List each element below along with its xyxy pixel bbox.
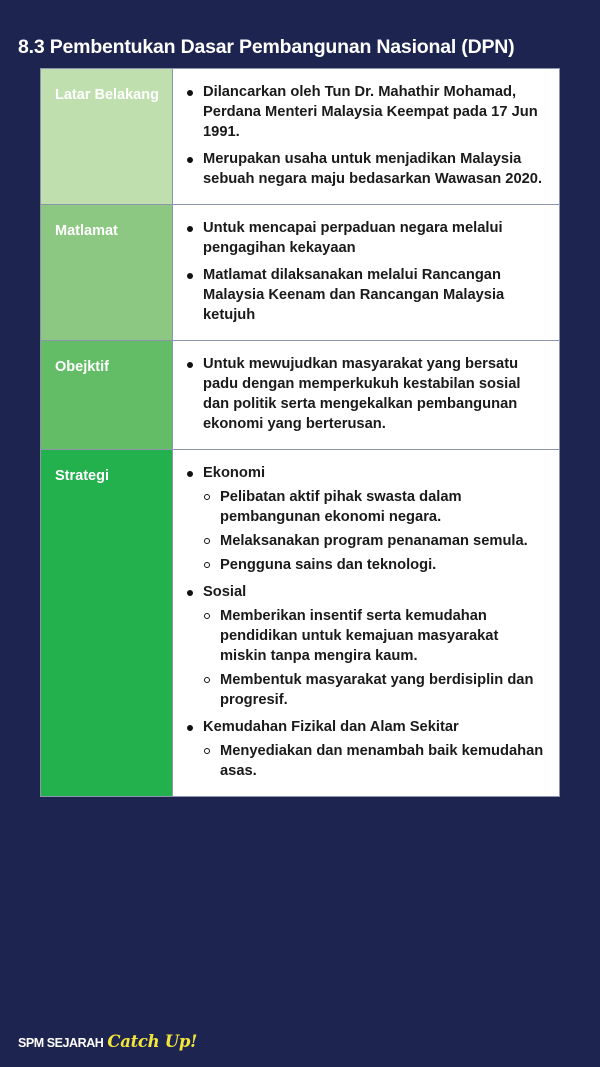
bullet-ring-icon — [204, 748, 210, 754]
row-content-cell: EkonomiPelibatan aktif pihak swasta dala… — [173, 450, 559, 796]
bullet-dot-icon — [187, 90, 193, 96]
sub-bullet-list: Memberikan insentif serta kemudahan pend… — [203, 607, 545, 711]
row-label-text: Matlamat — [55, 223, 118, 239]
sub-bullet-text: Memberikan insentif serta kemudahan pend… — [220, 608, 498, 664]
bullet-ring-icon — [204, 613, 210, 619]
bullet-ring-icon — [204, 538, 210, 544]
sub-bullet-list: Pelibatan aktif pihak swasta dalam pemba… — [203, 488, 545, 576]
bullet-dot-icon — [187, 725, 193, 731]
bullet-text: Merupakan usaha untuk menjadikan Malaysi… — [203, 151, 542, 187]
bullet-item: Untuk mencapai perpaduan negara melalui … — [187, 219, 545, 259]
bullet-item: Matlamat dilaksanakan melalui Rancangan … — [187, 266, 545, 326]
bullet-ring-icon — [204, 562, 210, 568]
bullet-text: Matlamat dilaksanakan melalui Rancangan … — [203, 267, 504, 323]
bullet-ring-icon — [204, 494, 210, 500]
brand-name-text: SPM SEJARAH — [18, 1036, 103, 1050]
bullet-list: EkonomiPelibatan aktif pihak swasta dala… — [187, 464, 545, 782]
bullet-item: Untuk mewujudkan masyarakat yang bersatu… — [187, 355, 545, 435]
row-label-text: Strategi — [55, 468, 109, 484]
sub-bullet-text: Menyediakan dan menambah baik kemudahan … — [220, 743, 543, 779]
bullet-text: Dilancarkan oleh Tun Dr. Mahathir Mohama… — [203, 84, 538, 140]
bullet-text: Untuk mewujudkan masyarakat yang bersatu… — [203, 356, 521, 432]
content-table: Latar BelakangDilancarkan oleh Tun Dr. M… — [40, 68, 560, 797]
row-content-cell: Untuk mencapai perpaduan negara melalui … — [173, 205, 559, 340]
row-label-cell: Strategi — [41, 450, 173, 796]
sub-bullet-item: Pelibatan aktif pihak swasta dalam pemba… — [203, 488, 545, 528]
row-label-cell: Obejktif — [41, 341, 173, 449]
bullet-dot-icon — [187, 590, 193, 596]
footer-brand-logo: SPM SEJARAH Catch Up! — [18, 1032, 197, 1051]
bullet-item: EkonomiPelibatan aktif pihak swasta dala… — [187, 464, 545, 576]
bullet-ring-icon — [204, 677, 210, 683]
bullet-text: Ekonomi — [203, 465, 265, 481]
row-label-cell: Latar Belakang — [41, 69, 173, 204]
bullet-list: Dilancarkan oleh Tun Dr. Mahathir Mohama… — [187, 83, 545, 190]
bullet-dot-icon — [187, 157, 193, 163]
bullet-item: Merupakan usaha untuk menjadikan Malaysi… — [187, 150, 545, 190]
sub-bullet-item: Memberikan insentif serta kemudahan pend… — [203, 607, 545, 667]
table-row: MatlamatUntuk mencapai perpaduan negara … — [41, 205, 559, 341]
sub-bullet-item: Melaksanakan program penanaman semula. — [203, 532, 545, 552]
bullet-item: SosialMemberikan insentif serta kemudaha… — [187, 583, 545, 711]
row-label-text: Latar Belakang — [55, 87, 159, 103]
row-label-text: Obejktif — [55, 359, 109, 375]
sub-bullet-item: Menyediakan dan menambah baik kemudahan … — [203, 742, 545, 782]
bullet-text: Kemudahan Fizikal dan Alam Sekitar — [203, 719, 459, 735]
table-row: ObejktifUntuk mewujudkan masyarakat yang… — [41, 341, 559, 450]
row-content-cell: Untuk mewujudkan masyarakat yang bersatu… — [173, 341, 559, 449]
bullet-item: Dilancarkan oleh Tun Dr. Mahathir Mohama… — [187, 83, 545, 143]
bullet-list: Untuk mencapai perpaduan negara melalui … — [187, 219, 545, 326]
sub-bullet-item: Membentuk masyarakat yang berdisiplin da… — [203, 671, 545, 711]
row-label-cell: Matlamat — [41, 205, 173, 340]
sub-bullet-text: Membentuk masyarakat yang berdisiplin da… — [220, 672, 533, 708]
sub-bullet-text: Melaksanakan program penanaman semula. — [220, 533, 528, 549]
sub-bullet-text: Pengguna sains dan teknologi. — [220, 557, 436, 573]
bullet-text: Untuk mencapai perpaduan negara melalui … — [203, 220, 503, 256]
bullet-dot-icon — [187, 273, 193, 279]
row-content-cell: Dilancarkan oleh Tun Dr. Mahathir Mohama… — [173, 69, 559, 204]
sub-bullet-item: Pengguna sains dan teknologi. — [203, 556, 545, 576]
sub-bullet-text: Pelibatan aktif pihak swasta dalam pemba… — [220, 489, 462, 525]
bullet-list: Untuk mewujudkan masyarakat yang bersatu… — [187, 355, 545, 435]
bullet-item: Kemudahan Fizikal dan Alam SekitarMenyed… — [187, 718, 545, 782]
table-row: StrategiEkonomiPelibatan aktif pihak swa… — [41, 450, 559, 796]
sub-bullet-list: Menyediakan dan menambah baik kemudahan … — [203, 742, 545, 782]
brand-tagline-text: Catch Up! — [107, 1032, 197, 1051]
bullet-text: Sosial — [203, 584, 246, 600]
bullet-dot-icon — [187, 362, 193, 368]
bullet-dot-icon — [187, 471, 193, 477]
page-title: 8.3 Pembentukan Dasar Pembangunan Nasion… — [18, 36, 582, 59]
table-row: Latar BelakangDilancarkan oleh Tun Dr. M… — [41, 69, 559, 205]
bullet-dot-icon — [187, 226, 193, 232]
